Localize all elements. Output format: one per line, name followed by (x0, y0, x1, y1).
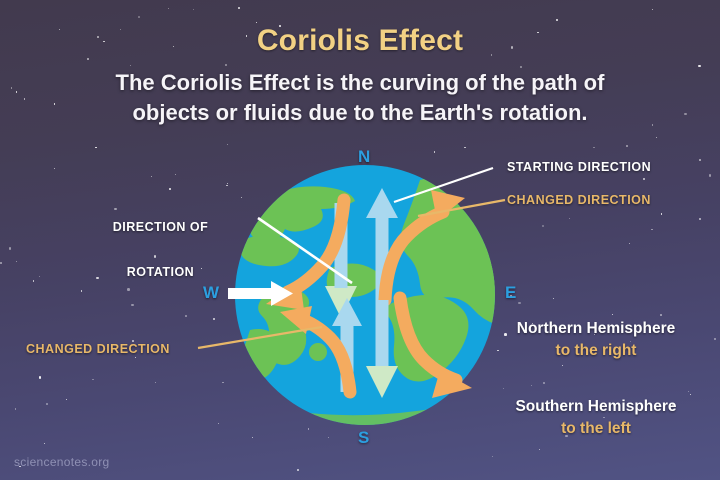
compass-north: N (358, 147, 370, 167)
infographic-canvas: Coriolis Effect The Coriolis Effect is t… (0, 0, 720, 480)
callout-rotation-line-2: ROTATION (73, 265, 248, 280)
callout-rotation-line-1: DIRECTION OF (73, 220, 248, 235)
subtitle-line-1: The Coriolis Effect is the curving of th… (60, 68, 660, 98)
compass-east: E (505, 283, 516, 303)
southern-hemisphere-label: Southern Hemisphere (490, 396, 702, 418)
hemisphere-southern: Southern Hemisphere to the left (490, 396, 702, 440)
northern-hemisphere-value: to the right (490, 340, 702, 362)
subtitle-line-2: objects or fluids due to the Earth's rot… (60, 98, 660, 128)
southern-hemisphere-value: to the left (490, 418, 702, 440)
callout-starting-direction: STARTING DIRECTION (507, 160, 651, 175)
northern-hemisphere-label: Northern Hemisphere (490, 318, 702, 340)
page-title: Coriolis Effect (0, 24, 720, 58)
compass-south: S (358, 428, 369, 448)
page-subtitle: The Coriolis Effect is the curving of th… (60, 68, 660, 128)
callout-direction-of-rotation: DIRECTION OF ROTATION (73, 190, 248, 310)
watermark: sciencenotes.org (14, 455, 110, 469)
hemisphere-northern: Northern Hemisphere to the right (490, 318, 702, 362)
callout-changed-direction-right: CHANGED DIRECTION (507, 193, 651, 208)
callout-changed-direction-left: CHANGED DIRECTION (26, 342, 170, 357)
